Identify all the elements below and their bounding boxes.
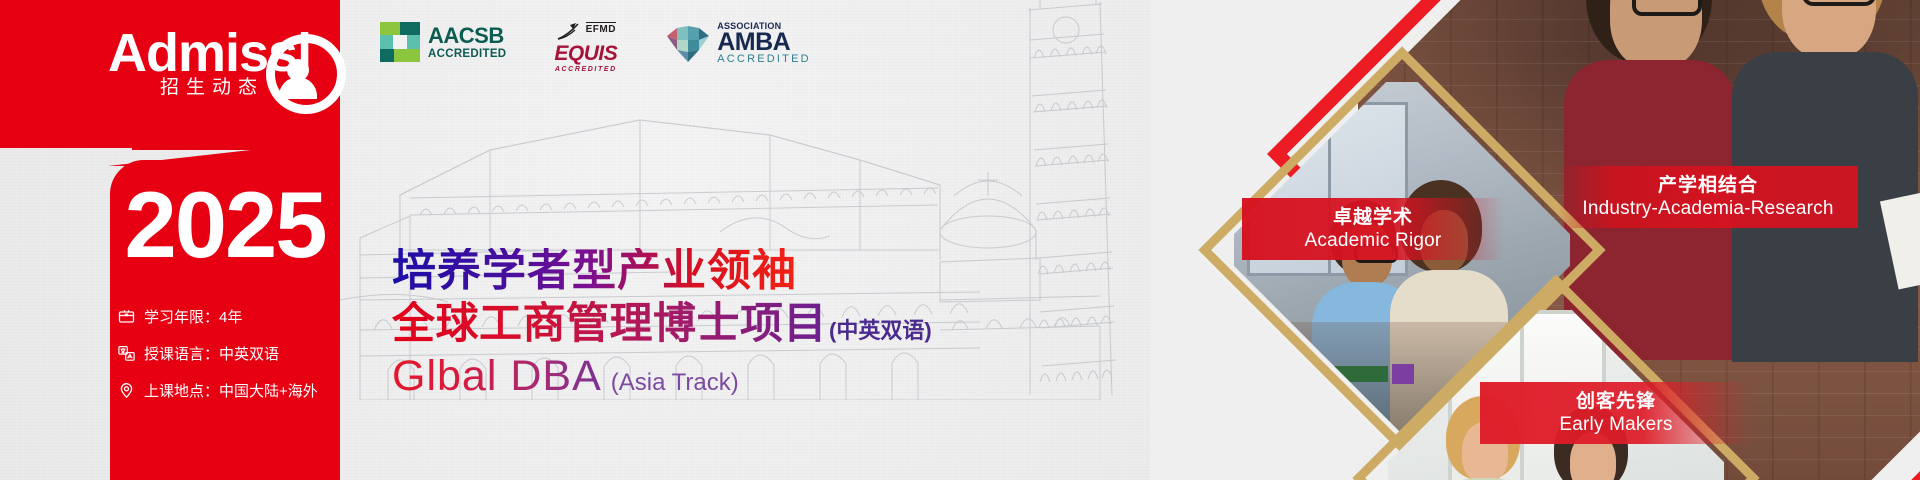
label-academic-rigor-en: Academic Rigor [1256,229,1490,252]
label-early-makers-cn: 创客先锋 [1494,390,1738,413]
aacsb-icon [380,22,420,62]
admission-wordmark-cn: 招生动态 [160,72,264,99]
aacsb-accredited-logo: AACSB ACCREDITED [380,22,506,62]
headline-primary-cn: 培养学者型产业领袖 [392,248,1152,295]
feature-duration-text: 学习年限：4年 [144,306,242,327]
feature-language: 授课语言：中英双语 [118,343,340,364]
admission-logo: Admissi 招生动态 [108,22,360,114]
headline-program-cn-note: (中英双语) [829,313,932,345]
aacsb-sublabel: ACCREDITED [428,48,506,60]
feature-location-text: 上课地点：中国大陆+海外 [144,380,318,401]
amba-accredited-logo: ASSOCIATION AMBA ACCREDITED [665,22,811,65]
label-early-makers: 创客先锋 Early Makers [1480,382,1752,444]
feature-location: 上课地点：中国大陆+海外 [118,380,340,401]
equis-label: EQUIS [554,42,617,66]
efmd-label: EFMD [586,22,616,35]
label-early-makers-en: Early Makers [1494,413,1738,436]
headline-block: 培养学者型产业领袖 全球工商管理博士项目 (中英双语) Glbal DBA (A… [392,248,1152,401]
year-label: 2025 [112,178,338,272]
admission-person-badge-icon [266,34,346,114]
feature-list: 学习年限：4年 授课语言：中英双语 [118,306,340,417]
location-pin-icon [118,382,135,399]
label-industry-academia-research-cn: 产学相结合 [1572,174,1844,197]
headline-program-en: Glbal DBA [392,352,602,401]
amba-sublabel: ACCREDITED [717,54,811,65]
language-icon [118,345,135,362]
efmd-swoosh-icon [556,22,582,42]
headline-program-cn: 全球工商管理博士项目 [392,301,827,348]
calendar-icon [118,308,135,325]
admissions-banner: AACSB ACCREDITED EFMD EQUIS ACCREDITED [0,0,1920,480]
equis-accredited-logo: EFMD EQUIS ACCREDITED [554,22,617,73]
headline-program-en-note: (Asia Track) [611,369,739,397]
accreditation-logos: AACSB ACCREDITED EFMD EQUIS ACCREDITED [380,22,811,73]
feature-duration: 学习年限：4年 [118,306,340,327]
amba-label: AMBA [717,31,811,54]
label-industry-academia-research: 产学相结合 Industry-Academia-Research [1558,166,1858,228]
label-academic-rigor: 卓越学术 Academic Rigor [1242,198,1504,260]
feature-language-text: 授课语言：中英双语 [144,343,279,364]
left-red-panel: Admissi 招生动态 2025 学习年限：4年 [0,0,340,480]
amba-diamond-icon [665,22,711,64]
photo-collage: 卓越学术 Academic Rigor 产学相结合 Industry-Acade… [1150,0,1920,480]
center-content: AACSB ACCREDITED EFMD EQUIS ACCREDITED [340,0,1170,480]
equis-sublabel: ACCREDITED [555,66,617,73]
aacsb-label: AACSB [428,24,506,47]
label-industry-academia-research-en: Industry-Academia-Research [1572,197,1844,220]
label-academic-rigor-cn: 卓越学术 [1256,206,1490,229]
